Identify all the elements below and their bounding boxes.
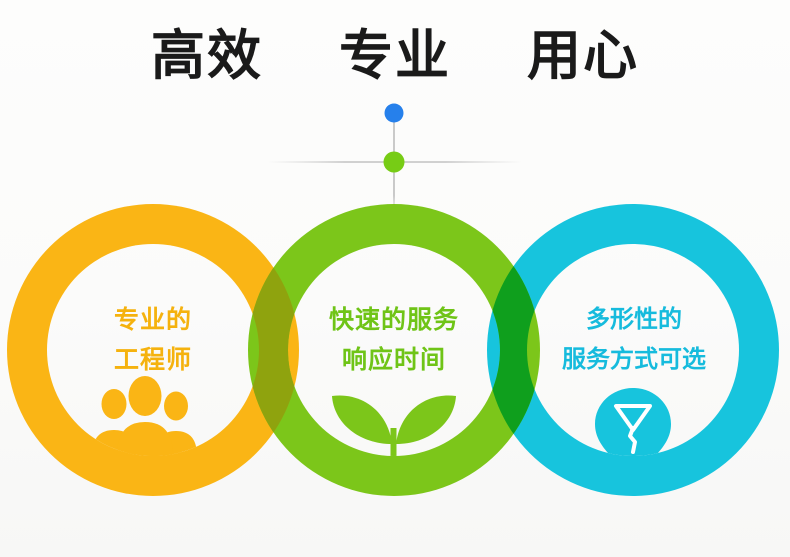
venn-diagram	[0, 0, 790, 557]
caption-response-line-2: 响应时间	[289, 340, 499, 380]
caption-engineers-line-2: 工程师	[48, 340, 258, 380]
caption-options: 多形性的 服务方式可选	[528, 300, 740, 380]
caption-options-line-1: 多形性的	[528, 300, 740, 340]
green-cyan-overlap	[0, 0, 790, 557]
caption-engineers-line-1: 专业的	[48, 300, 258, 340]
caption-response-line-1: 快速的服务	[289, 300, 499, 340]
poster-canvas: 高效 专业 用心	[0, 0, 790, 557]
caption-engineers: 专业的 工程师	[48, 300, 258, 380]
caption-options-line-2: 服务方式可选	[528, 340, 740, 380]
caption-response: 快速的服务 响应时间	[289, 300, 499, 380]
